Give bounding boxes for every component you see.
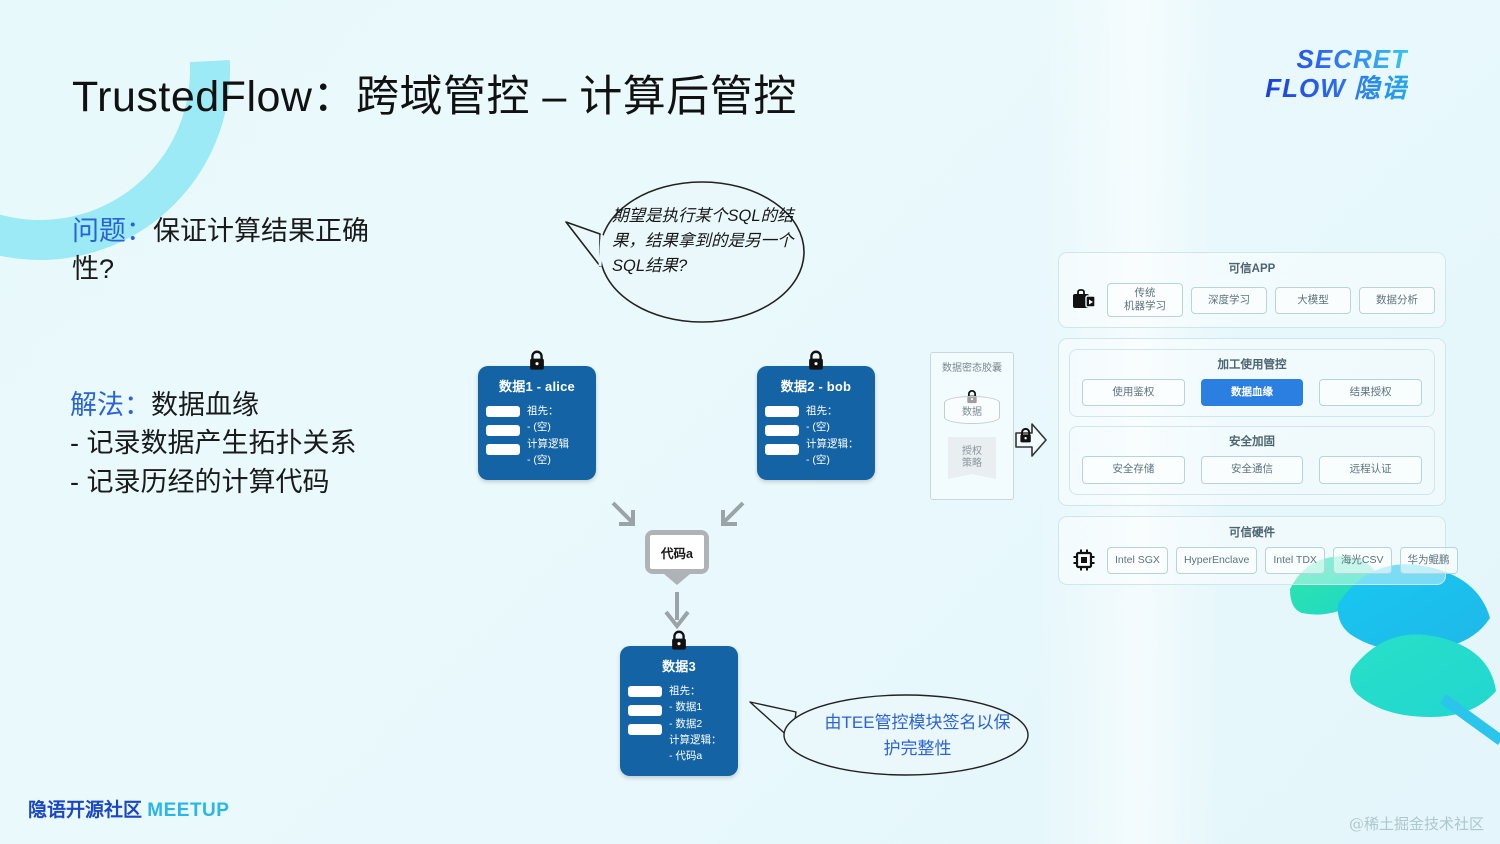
trusted-app-box: 可信APP 传统机器学习 深度学习 大模型 数据分析 bbox=[1058, 252, 1446, 328]
capsule-policy-label-1: 授权 bbox=[962, 446, 982, 459]
ancestors-label: 祖先： bbox=[806, 403, 859, 419]
speech-bubble-bottom-text: 由TEE管控模块签名以保护完整性 bbox=[820, 710, 1015, 761]
security-hardening-row: 安全存储 安全通信 远程认证 bbox=[1082, 456, 1422, 483]
card-meta: 祖先： - (空) 计算逻辑 - (空) bbox=[527, 403, 569, 468]
logic-item: - (空) bbox=[806, 452, 859, 468]
data-card-1[interactable]: 数据1 - alice 祖先： - (空) 计算逻辑 - (空) bbox=[478, 366, 596, 480]
chip-icon bbox=[1069, 548, 1099, 572]
hardware-chip-2[interactable]: Intel TDX bbox=[1265, 547, 1325, 574]
card-bar bbox=[765, 444, 799, 455]
question-block: 问题：保证计算结果正确 性? bbox=[72, 212, 452, 289]
architecture-stack: 可信APP 传统机器学习 深度学习 大模型 数据分析 bbox=[1058, 252, 1446, 595]
speech-bubble-bottom: 由TEE管控模块签名以保护完整性 bbox=[748, 690, 1038, 780]
monitor-icon: 代码a bbox=[645, 530, 709, 574]
card-bar bbox=[765, 425, 799, 436]
logic-label: 计算逻辑： bbox=[669, 732, 722, 748]
speech-bubble-top-text: 期望是执行某个SQL的结果，结果拿到的是另一个SQL结果? bbox=[612, 204, 794, 279]
data-card-3[interactable]: 数据3 祖先： - 数据1 - 数据2 计算逻辑： - 代码a bbox=[620, 646, 738, 776]
logic-item: - 代码a bbox=[669, 748, 722, 764]
logic-label: 计算逻辑： bbox=[806, 436, 859, 452]
question-text: 保证计算结果正确 bbox=[153, 216, 369, 246]
card-body: 祖先： - (空) 计算逻辑： - (空) bbox=[765, 403, 867, 468]
trusted-hardware-box: 可信硬件 Intel SGX HyperEnclave Intel TDX 海 bbox=[1058, 516, 1446, 585]
code-node[interactable]: 代码a bbox=[645, 530, 709, 585]
security-hardening-title: 安全加固 bbox=[1082, 433, 1422, 449]
ancestors-label: 祖先： bbox=[527, 403, 569, 419]
capsule-data-label: 数据 bbox=[962, 403, 982, 418]
watermark: @稀土掘金技术社区 bbox=[1349, 813, 1484, 834]
question-label: 问题： bbox=[72, 216, 153, 246]
control-chip-2[interactable]: 结果授权 bbox=[1319, 379, 1422, 406]
trusted-app-title: 可信APP bbox=[1069, 260, 1435, 276]
footer-cn: 隐语开源社区 bbox=[28, 800, 147, 821]
app-chip-3[interactable]: 数据分析 bbox=[1359, 287, 1435, 314]
ancestor-item: - (空) bbox=[806, 419, 859, 435]
capsule-title: 数据密态胶囊 bbox=[931, 359, 1013, 374]
solution-label: 解法： bbox=[70, 390, 151, 420]
card-bars bbox=[765, 403, 799, 468]
processing-control-row: 使用鉴权 数据血缘 结果授权 bbox=[1082, 379, 1422, 406]
app-chip-0-line2: 机器学习 bbox=[1124, 300, 1166, 312]
card-meta: 祖先： - (空) 计算逻辑： - (空) bbox=[806, 403, 859, 468]
app-chip-0-line1: 传统 bbox=[1135, 287, 1156, 299]
ancestor-item: - 数据2 bbox=[669, 716, 722, 732]
question-line-1: 问题：保证计算结果正确 bbox=[72, 212, 452, 250]
trusted-hardware-row: Intel SGX HyperEnclave Intel TDX 海光CSV 华… bbox=[1069, 547, 1435, 574]
control-chip-0[interactable]: 使用鉴权 bbox=[1082, 379, 1185, 406]
logo-line-2: FLOW 隐语 bbox=[1265, 75, 1408, 101]
card-bar bbox=[486, 425, 520, 436]
hardening-chip-0[interactable]: 安全存储 bbox=[1082, 456, 1185, 483]
app-chip-0[interactable]: 传统机器学习 bbox=[1107, 283, 1183, 317]
solution-block: 解法：数据血缘 - 记录数据产生拓扑关系 - 记录历经的计算代码 bbox=[70, 386, 490, 501]
hardware-chip-1[interactable]: HyperEnclave bbox=[1176, 547, 1257, 574]
arrow-down-icon bbox=[663, 590, 691, 632]
app-chip-2[interactable]: 大模型 bbox=[1275, 287, 1351, 314]
control-outer-box: 加工使用管控 使用鉴权 数据血缘 结果授权 安全加固 安全存储 安全通信 远程认… bbox=[1058, 338, 1446, 505]
monitor-stand bbox=[664, 574, 690, 585]
lock-icon bbox=[805, 349, 827, 371]
logic-item: - (空) bbox=[527, 452, 569, 468]
capsule-policy-label-2: 策略 bbox=[962, 458, 982, 471]
card-title: 数据1 - alice bbox=[486, 376, 588, 395]
card-bar bbox=[628, 686, 662, 697]
hardware-chip-3[interactable]: 海光CSV bbox=[1333, 547, 1392, 574]
trusted-hardware-title: 可信硬件 bbox=[1069, 524, 1435, 540]
ancestor-item: - (空) bbox=[527, 419, 569, 435]
footer: 隐语开源社区 MEETUP bbox=[28, 795, 229, 822]
card-bar bbox=[628, 724, 662, 735]
arrow-down-left-icon bbox=[714, 498, 748, 532]
control-chip-1[interactable]: 数据血缘 bbox=[1201, 379, 1304, 406]
solution-bullet-1: - 记录数据产生拓扑关系 bbox=[70, 424, 490, 462]
hardening-chip-1[interactable]: 安全通信 bbox=[1201, 456, 1304, 483]
data-card-2[interactable]: 数据2 - bob 祖先： - (空) 计算逻辑： - (空) bbox=[757, 366, 875, 480]
data-capsule[interactable]: 数据密态胶囊 数据 授权 策略 bbox=[930, 352, 1014, 500]
processing-control-group: 加工使用管控 使用鉴权 数据血缘 结果授权 bbox=[1069, 349, 1435, 417]
policy-document-icon: 授权 策略 bbox=[948, 437, 996, 479]
database-cylinder-icon: 数据 bbox=[944, 396, 1000, 424]
card-bar bbox=[486, 406, 520, 417]
card-bar bbox=[628, 705, 662, 716]
card-bars bbox=[486, 403, 520, 468]
brand-logo: SECRET FLOW 隐语 bbox=[1265, 46, 1408, 101]
ancestor-item: - 数据1 bbox=[669, 699, 722, 715]
question-line-2: 性? bbox=[72, 250, 452, 288]
hardening-chip-2[interactable]: 远程认证 bbox=[1319, 456, 1422, 483]
arrow-right-lock-icon bbox=[1014, 420, 1048, 460]
card-body: 祖先： - (空) 计算逻辑 - (空) bbox=[486, 403, 588, 468]
app-briefcase-icon bbox=[1069, 289, 1099, 311]
code-label: 代码a bbox=[650, 535, 704, 569]
card-bar bbox=[765, 406, 799, 417]
arrow-down-right-icon bbox=[608, 498, 642, 532]
slide-root: TrustedFlow：跨域管控 – 计算后管控 SECRET FLOW 隐语 … bbox=[0, 0, 1500, 844]
card-title: 数据2 - bob bbox=[765, 376, 867, 395]
trusted-app-row: 传统机器学习 深度学习 大模型 数据分析 bbox=[1069, 283, 1435, 317]
footer-en: MEETUP bbox=[147, 800, 229, 821]
card-bars bbox=[628, 683, 662, 764]
solution-line-1: 解法：数据血缘 bbox=[70, 386, 490, 424]
lock-icon bbox=[668, 629, 690, 651]
solution-text: 数据血缘 bbox=[151, 390, 259, 420]
app-chip-1[interactable]: 深度学习 bbox=[1191, 287, 1267, 314]
card-body: 祖先： - 数据1 - 数据2 计算逻辑： - 代码a bbox=[628, 683, 730, 764]
lock-icon bbox=[526, 349, 548, 371]
logic-label: 计算逻辑 bbox=[527, 436, 569, 452]
card-meta: 祖先： - 数据1 - 数据2 计算逻辑： - 代码a bbox=[669, 683, 722, 764]
processing-control-title: 加工使用管控 bbox=[1082, 356, 1422, 372]
page-title: TrustedFlow：跨域管控 – 计算后管控 bbox=[72, 62, 797, 124]
security-hardening-group: 安全加固 安全存储 安全通信 远程认证 bbox=[1069, 426, 1435, 494]
logo-line-1: SECRET bbox=[1265, 46, 1408, 72]
speech-bubble-top: 期望是执行某个SQL的结果，结果拿到的是另一个SQL结果? bbox=[560, 178, 820, 330]
ancestors-label: 祖先： bbox=[669, 683, 722, 699]
card-title: 数据3 bbox=[628, 656, 730, 675]
hardware-chip-0[interactable]: Intel SGX bbox=[1107, 547, 1168, 574]
hardware-chip-4[interactable]: 华为鲲鹏 bbox=[1400, 547, 1458, 574]
solution-bullet-2: - 记录历经的计算代码 bbox=[70, 463, 490, 501]
card-bar bbox=[486, 444, 520, 455]
